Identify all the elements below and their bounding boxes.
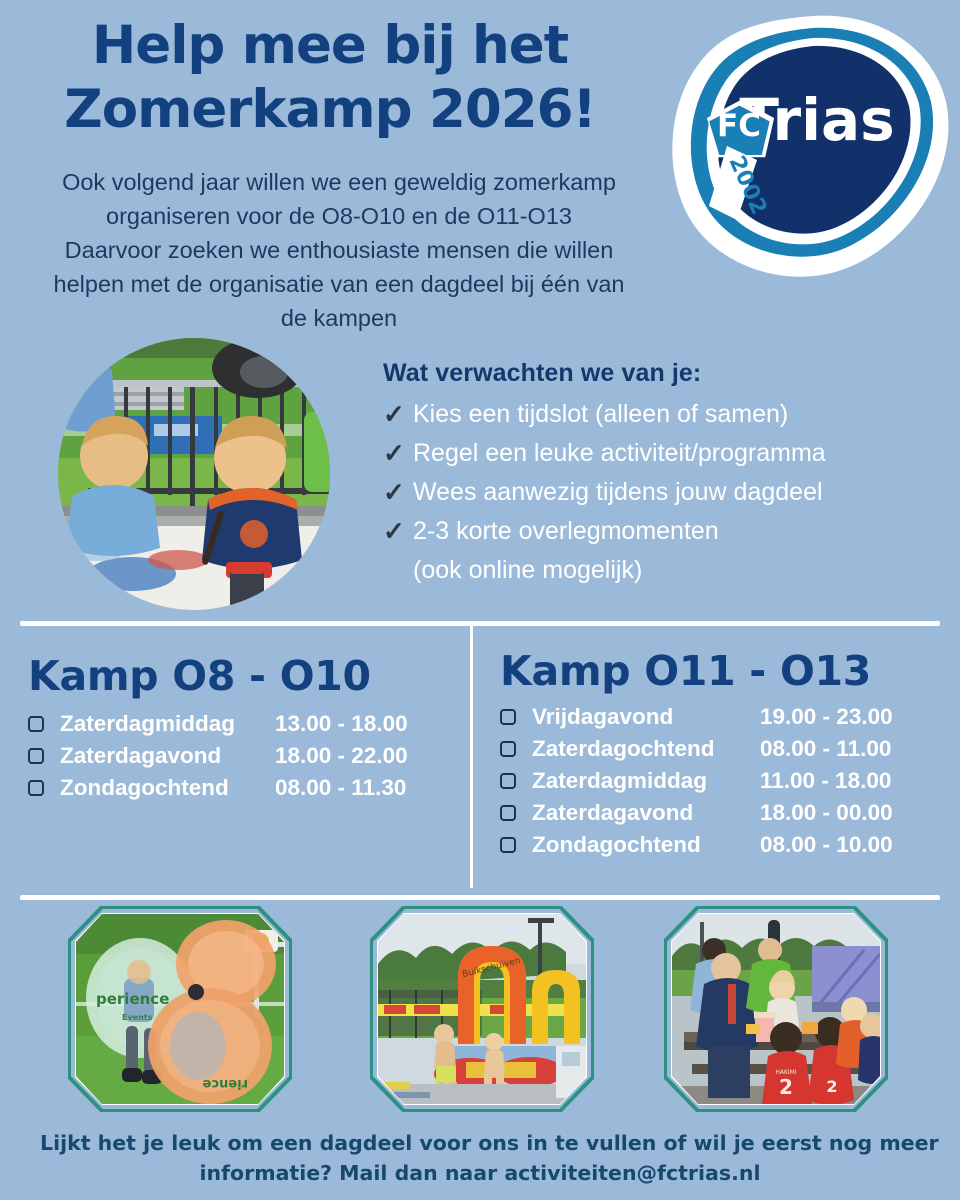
checkbox-icon[interactable] bbox=[500, 773, 516, 789]
checkbox-icon[interactable] bbox=[500, 805, 516, 821]
timeslot-day: Vrijdagavond bbox=[532, 701, 760, 733]
footer-line-1: Lijkt het je leuk om een dagdeel voor on… bbox=[40, 1128, 920, 1158]
expectation-item: ✓ Wees aanwezig tijdens jouw dagdeel bbox=[383, 473, 943, 512]
bubble-football-photo: perience Events rience bbox=[68, 906, 292, 1112]
svg-text:2: 2 bbox=[826, 1077, 837, 1096]
timeslot-row[interactable]: Zaterdagavond 18.00 - 00.00 bbox=[500, 797, 950, 829]
checkbox-icon[interactable] bbox=[500, 837, 516, 853]
divider-bottom bbox=[20, 895, 940, 900]
svg-text:Events: Events bbox=[122, 1013, 153, 1022]
timeslot-day: Zondagochtend bbox=[532, 829, 760, 861]
divider-vertical bbox=[470, 626, 473, 888]
timeslot-day: Zaterdagavond bbox=[532, 797, 760, 829]
expectation-item: ✓ Regel een leuke activiteit/programma bbox=[383, 434, 943, 473]
expectation-label: 2-3 korte overlegmomenten bbox=[413, 512, 719, 551]
expectations-heading: Wat verwachten we van je: bbox=[383, 356, 943, 390]
checkbox-icon[interactable] bbox=[28, 716, 44, 732]
expectation-label: Wees aanwezig tijdens jouw dagdeel bbox=[413, 473, 823, 512]
timeslot-day: Zondagochtend bbox=[60, 772, 275, 804]
intro-line: de kampen bbox=[14, 301, 664, 335]
svg-text:perience: perience bbox=[96, 990, 169, 1008]
divider-top bbox=[20, 621, 940, 626]
camp-title: Kamp O11 - O13 bbox=[500, 645, 950, 697]
timeslot-time: 13.00 - 18.00 bbox=[275, 708, 408, 740]
expectation-item: ✓ 2-3 korte overlegmomenten bbox=[383, 512, 943, 551]
timeslot-day: Zaterdagochtend bbox=[532, 733, 760, 765]
timeslot-row[interactable]: Vrijdagavond 19.00 - 23.00 bbox=[500, 701, 950, 733]
expectation-label: Regel een leuke activiteit/programma bbox=[413, 434, 826, 473]
intro-line: Ook volgend jaar willen we een geweldig … bbox=[14, 165, 664, 199]
page-title: Help mee bij het Zomerkamp 2026! bbox=[0, 14, 660, 142]
footer-line-2: informatie? Mail dan naar activiteiten@f… bbox=[40, 1158, 920, 1188]
intro-line: helpen met de organisatie van een dagdee… bbox=[14, 267, 664, 301]
timeslot-time: 08.00 - 11.30 bbox=[275, 772, 406, 804]
title-line-2: Zomerkamp 2026! bbox=[0, 78, 660, 142]
timeslot-day: Zaterdagmiddag bbox=[532, 765, 760, 797]
intro-line: Daarvoor zoeken we enthousiaste mensen d… bbox=[14, 233, 664, 267]
timeslot-row[interactable]: Zondagochtend 08.00 - 10.00 bbox=[500, 829, 950, 861]
logo-fc-text: FC bbox=[717, 108, 761, 144]
timeslot-day: Zaterdagmiddag bbox=[60, 708, 275, 740]
expectation-subnote: (ook online mogelijk) bbox=[383, 551, 943, 590]
svg-text:2: 2 bbox=[779, 1075, 793, 1099]
timeslot-row[interactable]: Zondagochtend 08.00 - 11.30 bbox=[28, 772, 468, 804]
svg-text:rience: rience bbox=[202, 1076, 248, 1091]
timeslot-time: 18.00 - 00.00 bbox=[760, 797, 893, 829]
timeslot-time: 19.00 - 23.00 bbox=[760, 701, 893, 733]
timeslot-time: 08.00 - 11.00 bbox=[760, 733, 891, 765]
picnic-table-photo: HAKIMI 2 2 bbox=[664, 906, 888, 1112]
timeslot-row[interactable]: Zaterdagmiddag 11.00 - 18.00 bbox=[500, 765, 950, 797]
timeslot-time: 08.00 - 10.00 bbox=[760, 829, 893, 861]
check-icon: ✓ bbox=[383, 395, 413, 434]
timeslot-row[interactable]: Zaterdagmiddag 13.00 - 18.00 bbox=[28, 708, 468, 740]
camp-section-o8-o10: Kamp O8 - O10 Zaterdagmiddag 13.00 - 18.… bbox=[28, 650, 468, 804]
poster-root: Help mee bij het Zomerkamp 2026! Ook vol… bbox=[0, 0, 960, 1200]
timeslot-row[interactable]: Zaterdagochtend 08.00 - 11.00 bbox=[500, 733, 950, 765]
expectations-block: Wat verwachten we van je: ✓ Kies een tij… bbox=[383, 356, 943, 590]
check-icon: ✓ bbox=[383, 434, 413, 473]
title-line-1: Help mee bij het bbox=[0, 14, 660, 78]
fc-trias-logo: Trias FC 2002 bbox=[665, 8, 953, 278]
footer-contact: Lijkt het je leuk om een dagdeel voor on… bbox=[40, 1128, 920, 1188]
checkbox-icon[interactable] bbox=[28, 748, 44, 764]
camp-title: Kamp O8 - O10 bbox=[28, 650, 468, 702]
timeslot-row[interactable]: Zaterdagavond 18.00 - 22.00 bbox=[28, 740, 468, 772]
circle-photo-painting bbox=[58, 338, 330, 610]
intro-paragraph: Ook volgend jaar willen we een geweldig … bbox=[14, 165, 664, 335]
timeslot-time: 18.00 - 22.00 bbox=[275, 740, 408, 772]
checkbox-icon[interactable] bbox=[500, 709, 516, 725]
timeslot-day: Zaterdagavond bbox=[60, 740, 275, 772]
expectation-item: ✓ Kies een tijdslot (alleen of samen) bbox=[383, 395, 943, 434]
expectation-label: Kies een tijdslot (alleen of samen) bbox=[413, 395, 788, 434]
checkbox-icon[interactable] bbox=[28, 780, 44, 796]
timeslot-time: 11.00 - 18.00 bbox=[760, 765, 891, 797]
intro-line: organiseren voor de O8-O10 en de O11-O13 bbox=[14, 199, 664, 233]
inflatable-slide-photo: Buikschuiven bbox=[370, 906, 594, 1112]
check-icon: ✓ bbox=[383, 512, 413, 551]
checkbox-icon[interactable] bbox=[500, 741, 516, 757]
camp-section-o11-o13: Kamp O11 - O13 Vrijdagavond 19.00 - 23.0… bbox=[500, 645, 950, 861]
check-icon: ✓ bbox=[383, 473, 413, 512]
